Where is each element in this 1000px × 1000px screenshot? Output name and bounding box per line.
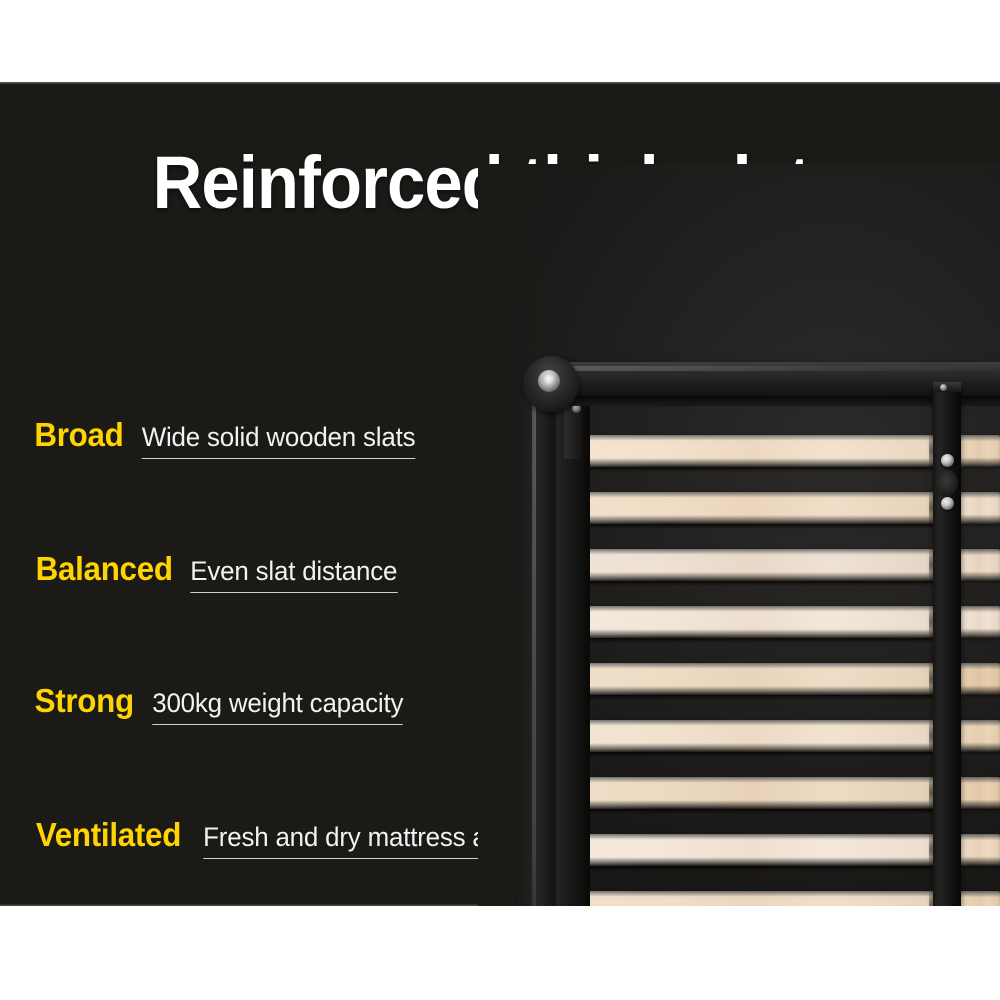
product-photo-bed-slats bbox=[478, 164, 1000, 906]
wooden-slat bbox=[584, 720, 936, 752]
wooden-slat bbox=[960, 492, 1000, 524]
side-rail-inner-face bbox=[556, 400, 586, 906]
center-rail-cap bbox=[933, 382, 961, 392]
head-rail-gloss bbox=[544, 366, 1000, 371]
dark-banner: Reinforced thick slats Broad Wide solid … bbox=[0, 82, 1000, 906]
center-rail-bolt-icon-2 bbox=[941, 497, 954, 510]
feature-label-ventilated: Ventilated bbox=[36, 816, 181, 854]
photo-left-edge-blend bbox=[478, 164, 548, 906]
wooden-slat bbox=[584, 663, 936, 695]
feature-desc-broad: Wide solid wooden slats bbox=[142, 422, 416, 459]
feature-label-broad: Broad bbox=[34, 416, 123, 454]
wooden-slat bbox=[584, 834, 936, 866]
wooden-slat bbox=[960, 891, 1000, 906]
wooden-slat bbox=[960, 834, 1000, 866]
wooden-slat bbox=[584, 549, 936, 581]
wooden-slat bbox=[960, 606, 1000, 638]
feature-item-broad: Broad Wide solid wooden slats bbox=[32, 416, 421, 459]
wooden-slat bbox=[960, 720, 1000, 752]
feature-label-strong: Strong bbox=[35, 682, 134, 720]
wooden-slat bbox=[584, 492, 936, 524]
wooden-slat bbox=[960, 549, 1000, 581]
head-rail bbox=[544, 362, 1000, 396]
wooden-slat bbox=[584, 606, 936, 638]
center-rail-washer bbox=[936, 470, 958, 496]
banner-top-divider bbox=[0, 82, 1000, 84]
wooden-slat bbox=[584, 435, 936, 467]
center-rail-cap-bolt-icon bbox=[940, 384, 947, 391]
feature-label-balanced: Balanced bbox=[36, 550, 173, 588]
feature-desc-strong: 300kg weight capacity bbox=[152, 688, 403, 725]
feature-item-balanced: Balanced Even slat distance bbox=[32, 550, 402, 593]
center-rail-bolt-icon-1 bbox=[941, 454, 954, 467]
wooden-slat bbox=[960, 777, 1000, 809]
wooden-slat bbox=[960, 663, 1000, 695]
feature-item-strong: Strong 300kg weight capacity bbox=[32, 682, 408, 725]
wooden-slat bbox=[584, 777, 936, 809]
promo-banner-page: Reinforced thick slats Broad Wide solid … bbox=[0, 0, 1000, 1000]
wooden-slat bbox=[960, 435, 1000, 467]
wooden-slat bbox=[584, 891, 936, 906]
feature-desc-balanced: Even slat distance bbox=[191, 556, 398, 593]
